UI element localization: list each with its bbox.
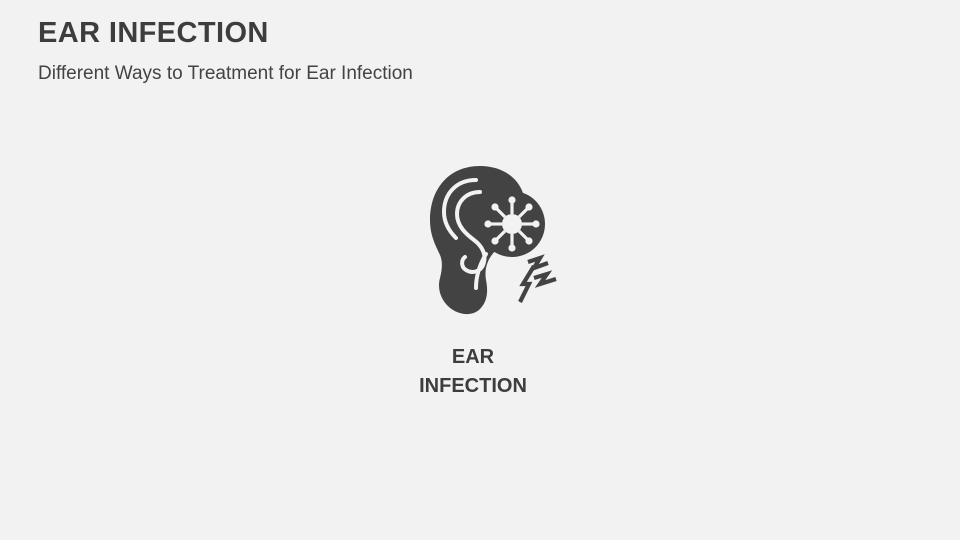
treatment-banner-dietary-and-herbal[interactable]: Dietary and Herbal — [582, 375, 827, 467]
banner-shape — [582, 243, 827, 335]
banner-outline — [580, 373, 829, 469]
treatment-banner-acupuncture-acupressure[interactable]: Acupuncture & Acupressure — [133, 243, 378, 335]
capsule-leaves-icon — [604, 377, 682, 465]
treatment-banner-surgical[interactable]: Surgical — [582, 243, 827, 335]
banner-outline — [580, 241, 829, 337]
treatment-label: Acupuncture & Acupressure — [140, 272, 250, 307]
pill-bottle-icon — [604, 113, 682, 201]
surgeon-scalpel-icon — [604, 245, 682, 333]
center-label: EAR INFECTION — [393, 343, 553, 401]
treatment-label: Homeopathic — [140, 148, 250, 165]
banner-shape — [133, 375, 378, 467]
banner-outline — [131, 241, 380, 337]
banner-shape — [133, 243, 378, 335]
treatment-banner-psychotherapy[interactable]: Psychotherapy — [133, 375, 378, 467]
banner-shape — [582, 375, 827, 467]
treatment-banner-conventional-allopathic[interactable]: Conventional/ Allopathic — [582, 111, 827, 203]
banner-shape — [133, 111, 378, 203]
acupressure-hand-icon — [258, 245, 336, 333]
ear-with-virus-and-pain-icon — [416, 162, 571, 332]
page-subtitle: Different Ways to Treatment for Ear Infe… — [38, 64, 638, 85]
treatment-label: Conventional/ Allopathic — [694, 140, 819, 175]
banner-outline — [580, 109, 829, 205]
header: EAR INFECTION Different Ways to Treatmen… — [38, 18, 638, 85]
two-heads-brain-icon — [258, 377, 336, 465]
mortar-and-pestle-icon — [258, 113, 336, 201]
treatment-banner-homeopathic[interactable]: Homeopathic — [133, 111, 378, 203]
treatment-label: Dietary and Herbal — [694, 404, 819, 439]
page-title: EAR INFECTION — [38, 18, 638, 50]
banner-outline — [131, 373, 380, 469]
treatment-label: Surgical — [694, 280, 819, 297]
treatment-label: Psychotherapy — [140, 412, 250, 429]
banner-shape — [582, 111, 827, 203]
banner-outline — [131, 109, 380, 205]
